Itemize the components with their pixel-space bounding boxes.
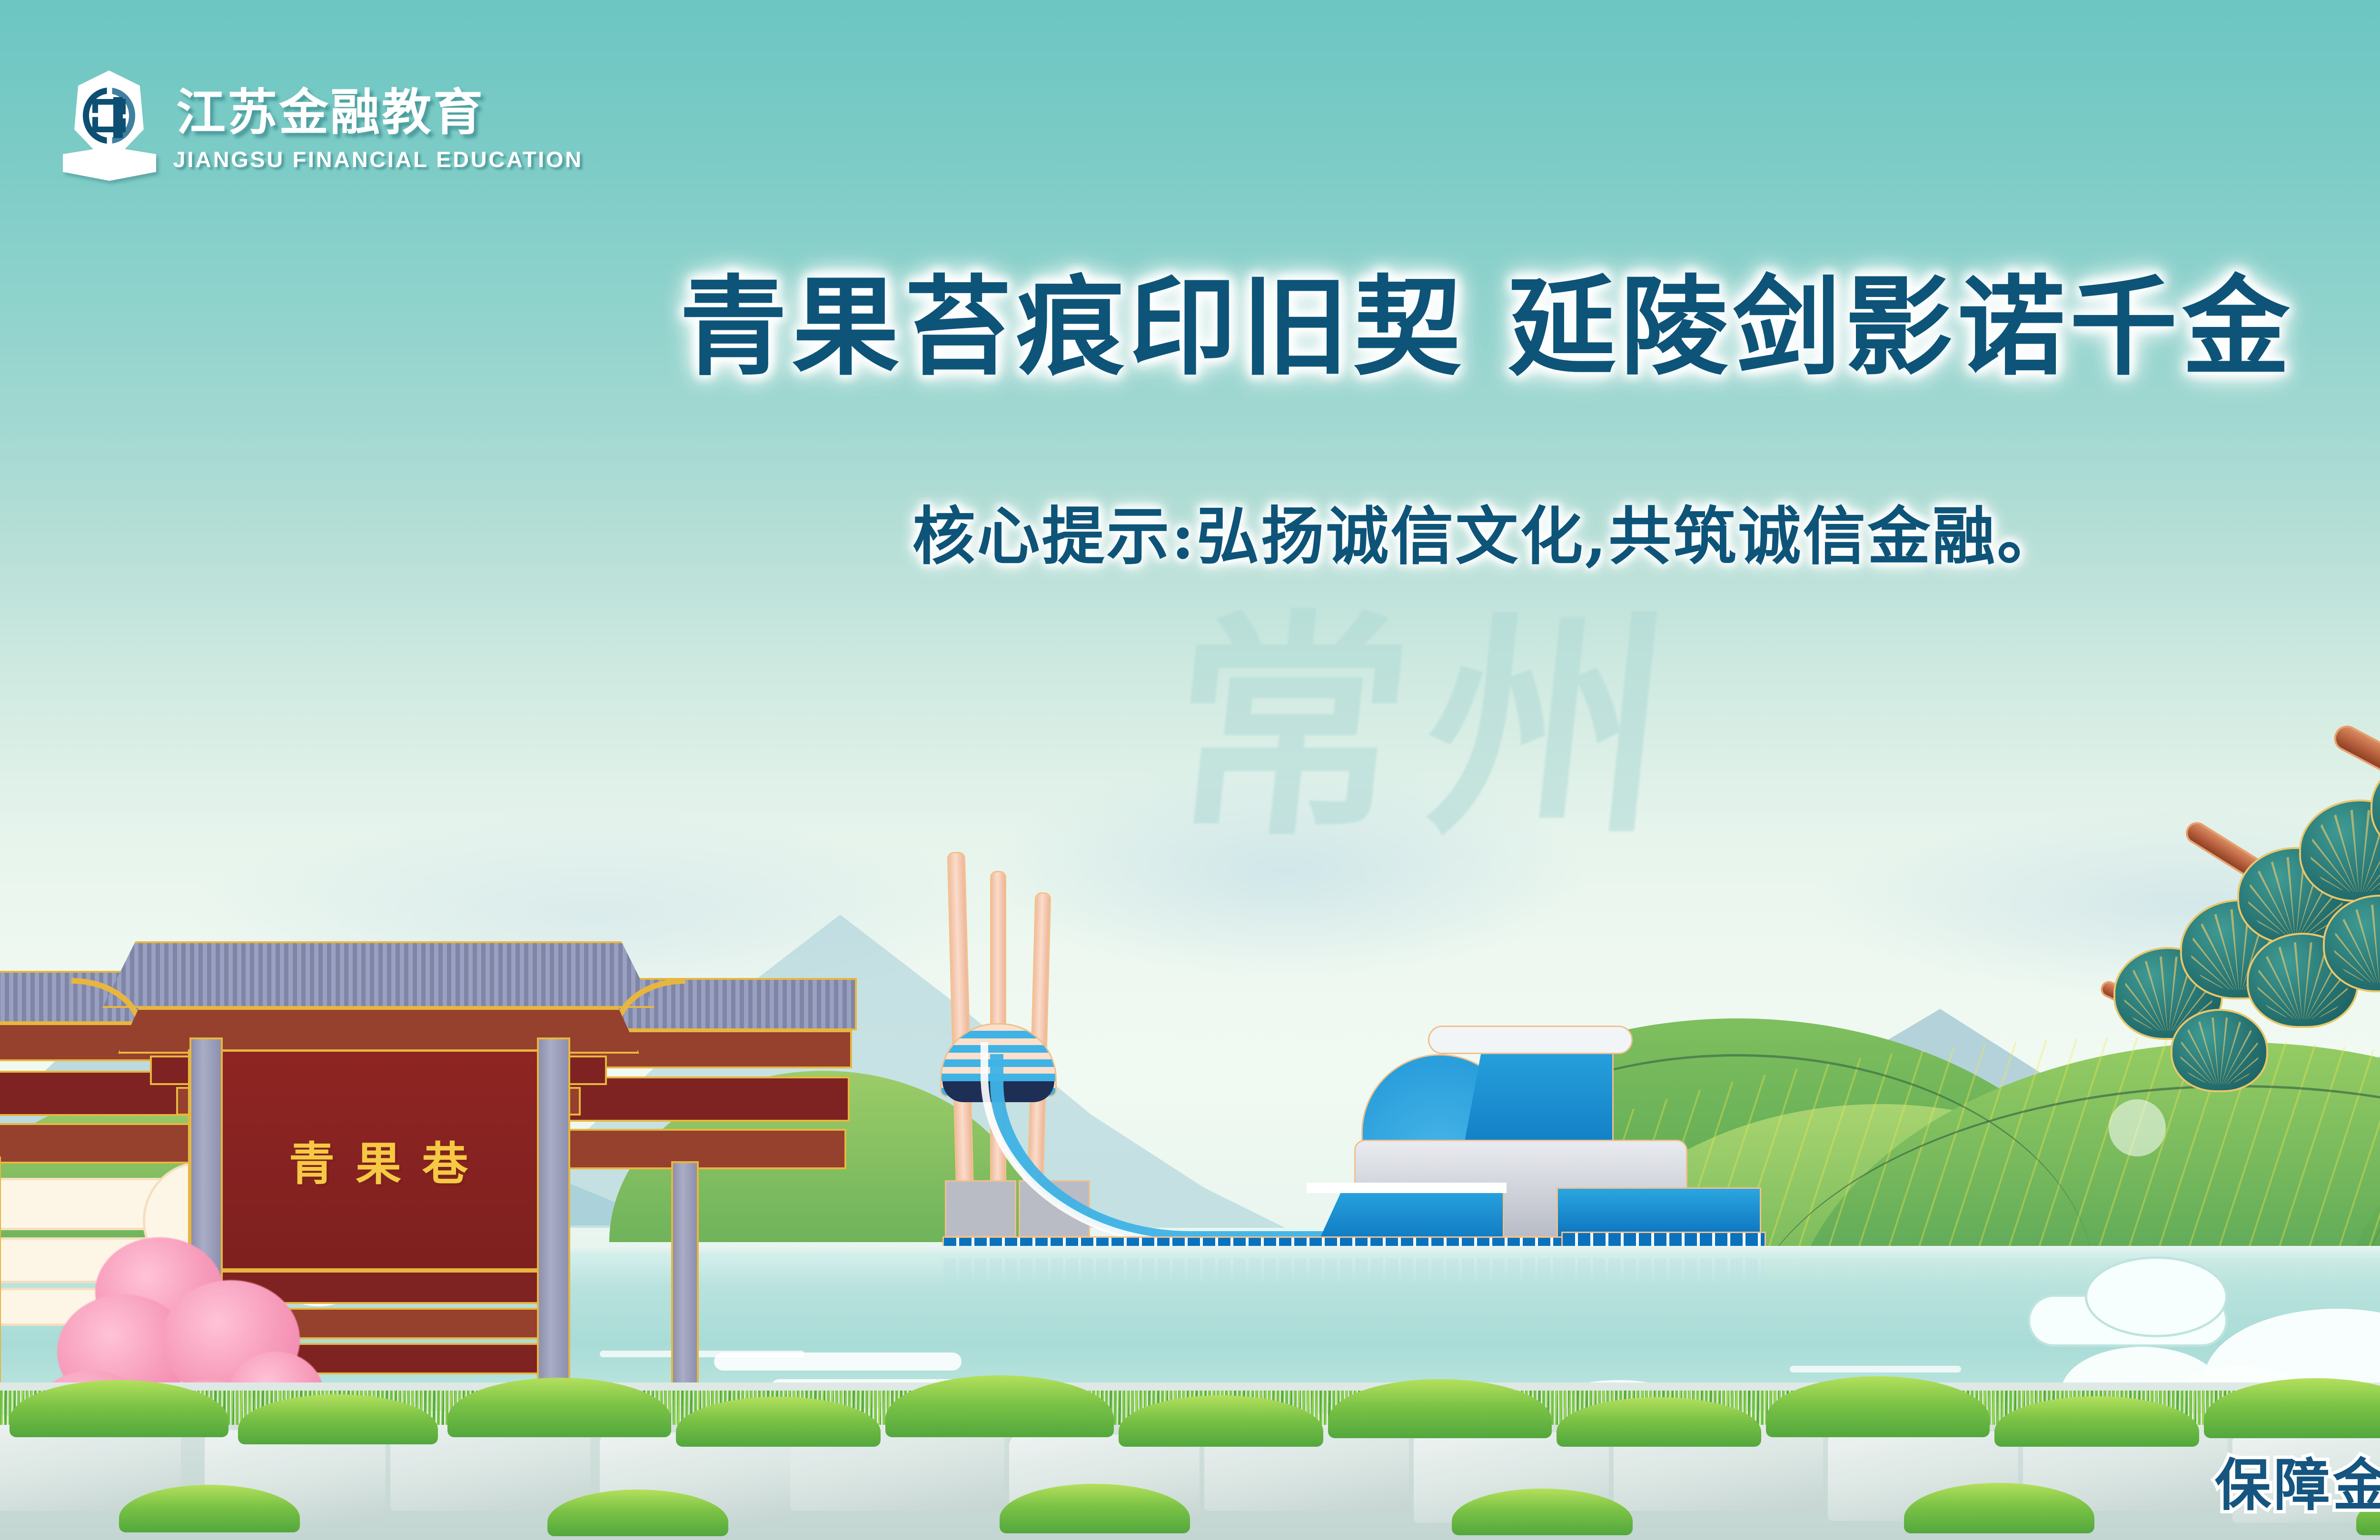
sj-monogram-icon [83, 88, 135, 144]
page-subtitle: 核心提示:弘扬诚信文化,共筑诚信金融。 [0, 505, 2380, 568]
book-icon [63, 147, 156, 181]
poster-canvas: 常州 [0, 0, 2380, 1540]
brand-logo[interactable]: 江苏金融教育 JIANGSU FINANCIAL EDUCATION [62, 67, 562, 171]
brand-name-en: JIANGSU FINANCIAL EDUCATION [173, 147, 583, 172]
brand-name-cn: 江苏金融教育 [176, 88, 485, 137]
page-title: 青果苔痕印旧契 延陵剑影诺千金 [0, 274, 2380, 381]
water-streak-3 [1790, 1366, 1961, 1372]
hall-eave-left [1307, 1183, 1507, 1193]
hall-roof-cap [1428, 1026, 1633, 1054]
arch-plaque-text: 青果巷 [268, 1127, 489, 1193]
arch-plaque: 青果巷 [188, 1049, 569, 1271]
bottom-tagline: 保障金融权益 助力美好生活 [2215, 1457, 2380, 1513]
tower-base-block [945, 1180, 1016, 1237]
arch-main-roof [102, 941, 654, 1008]
